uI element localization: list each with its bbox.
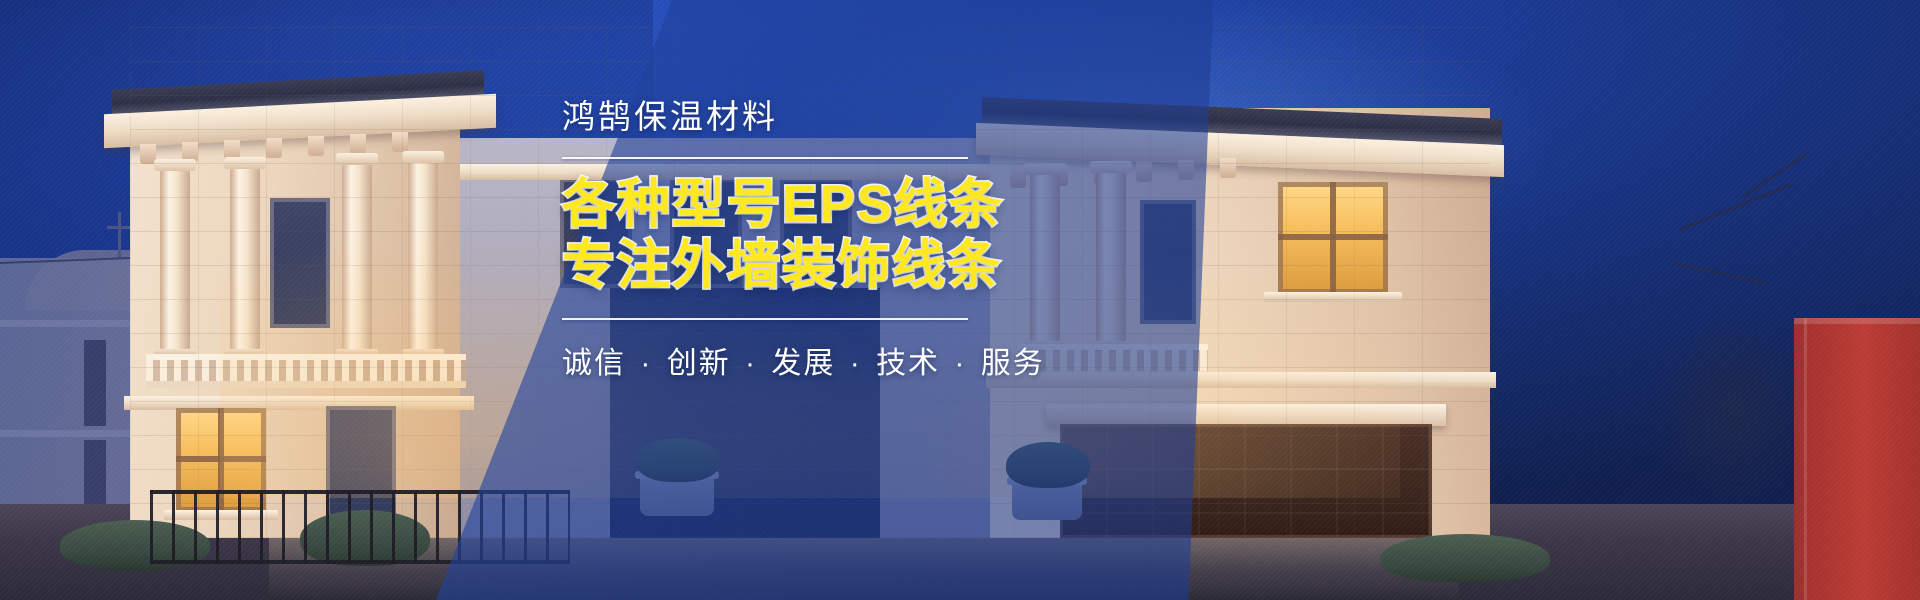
tagline-separator: ·	[636, 347, 656, 380]
tagline-separator: ·	[741, 347, 761, 380]
background-window	[84, 340, 106, 426]
villa-porch-window	[270, 198, 330, 328]
brand-title: 鸿鹄保温材料	[562, 96, 1182, 137]
dentil	[266, 138, 282, 158]
banner-content: 鸿鹄保温材料 各种型号EPS线条 专注外墙装饰线条 诚信 · 创新 · 发展 ·…	[562, 96, 1182, 382]
shrub	[1380, 534, 1550, 582]
tagline-item-1: 诚信	[562, 347, 626, 380]
shrub	[1006, 442, 1090, 488]
villa-window	[1278, 182, 1388, 294]
divider-bottom	[562, 318, 968, 320]
red-wall	[1794, 318, 1920, 600]
headline-line-1: 各种型号EPS线条	[562, 175, 1182, 235]
villa-window-sill	[1264, 292, 1402, 302]
background-spire	[118, 212, 121, 258]
villa-balustrade	[146, 354, 466, 388]
planter	[640, 476, 714, 516]
shrub	[636, 438, 720, 482]
iron-fence	[150, 490, 570, 564]
headline-line-2: 专注外墙装饰线条	[562, 236, 1182, 296]
tagline-item-5: 服务	[981, 347, 1045, 380]
tagline: 诚信 · 创新 · 发展 · 技术 · 服务	[562, 338, 1182, 382]
dentil	[392, 132, 408, 152]
villa-column	[408, 162, 438, 350]
tagline-item-2: 创新	[667, 347, 731, 380]
villa-column	[230, 168, 260, 350]
dentil	[308, 136, 324, 156]
dentil	[1220, 158, 1236, 178]
dentil	[350, 134, 366, 154]
divider-top	[562, 157, 968, 159]
villa-column	[160, 170, 190, 350]
villa-column	[342, 164, 372, 350]
promo-banner: 鸿鹄保温材料 各种型号EPS线条 专注外墙装饰线条 诚信 · 创新 · 发展 ·…	[0, 0, 1920, 600]
tagline-item-4: 技术	[876, 347, 940, 380]
garage-door	[1060, 424, 1432, 538]
garage-header	[1046, 404, 1446, 426]
tagline-separator: ·	[950, 347, 970, 380]
tagline-item-3: 发展	[771, 347, 835, 380]
tagline-separator: ·	[846, 347, 866, 380]
